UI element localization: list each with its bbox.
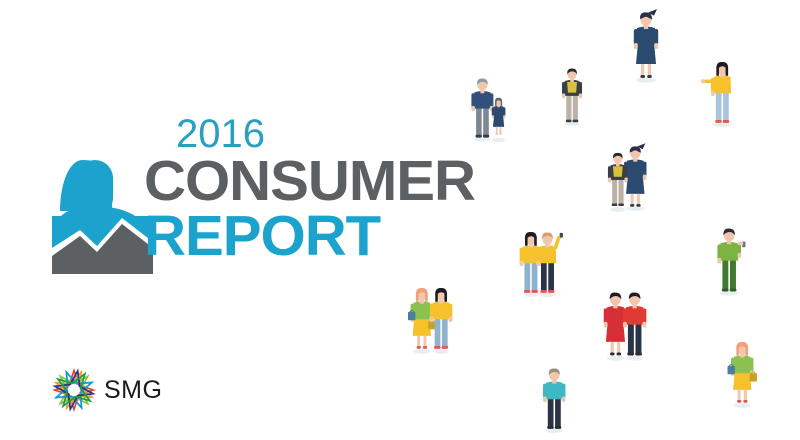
person-couple-in-red [602,292,652,361]
consumer-person-chart-logo-icon [50,156,158,274]
smg-star-logo-icon [52,368,96,412]
person-two-women-shopping [408,288,458,354]
person-woman-navy-dress [624,12,668,84]
person-man-with-child [468,78,517,143]
smg-logo: SMG [52,368,192,414]
person-selfie-couple-yellow [518,232,566,298]
person-man-teal-shirt [534,368,574,434]
slide-canvas: 2016 CONSUMER REPORT [0,0,800,440]
wordmark-consumer: CONSUMER [144,154,475,209]
consumer-report-logo-lockup: 2016 CONSUMER REPORT [48,112,468,282]
wordmark-report: REPORT [144,209,475,264]
person-woman-yellow-top-wave [702,62,742,128]
person-woman-and-teen [604,146,654,212]
person-man-green-phone [708,228,750,297]
wordmark: CONSUMER REPORT [144,154,469,264]
person-woman-yellow-skirt-bags [722,342,764,408]
person-person-yellow-scarf [554,68,590,127]
smg-company-label: SMG [104,376,162,405]
